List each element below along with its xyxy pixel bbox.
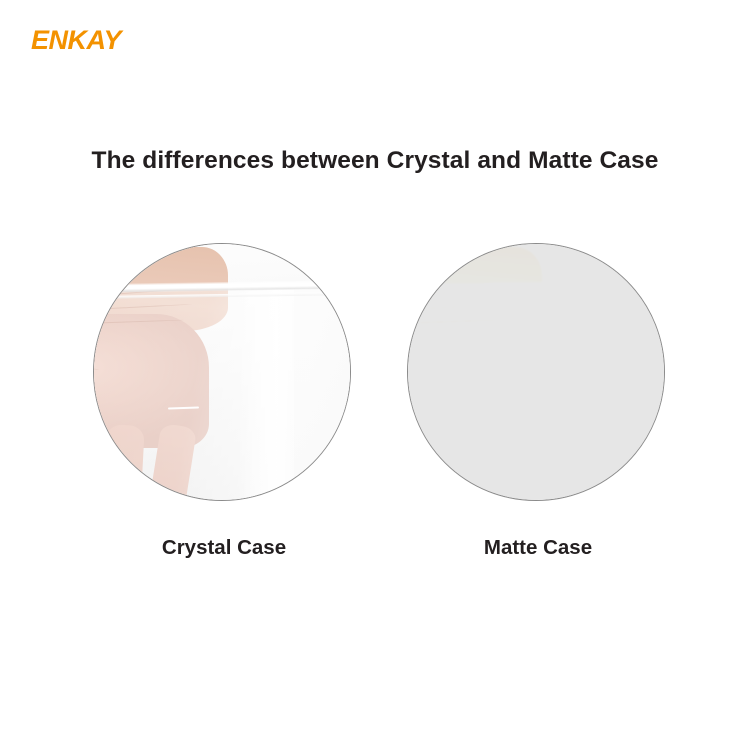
enkay-brand-logo: ENKAY (31, 27, 121, 54)
matte-frost-overlay (407, 243, 665, 501)
phone-case-shell (93, 286, 351, 501)
caption-matte-case: Matte Case (409, 536, 667, 560)
comparison-item-matte (407, 243, 665, 501)
matte-case-photo (407, 243, 665, 501)
caption-crystal-case: Crystal Case (95, 536, 353, 560)
case-highlight (237, 284, 294, 501)
comparison-item-crystal (93, 243, 351, 501)
crystal-scene (93, 243, 351, 501)
matte-scene (407, 243, 665, 501)
product-comparison-page: ENKAY The differences between Crystal an… (0, 0, 750, 750)
crystal-case-photo (93, 243, 351, 501)
page-title: The differences between Crystal and Matt… (0, 147, 750, 175)
comparison-row (0, 243, 750, 503)
